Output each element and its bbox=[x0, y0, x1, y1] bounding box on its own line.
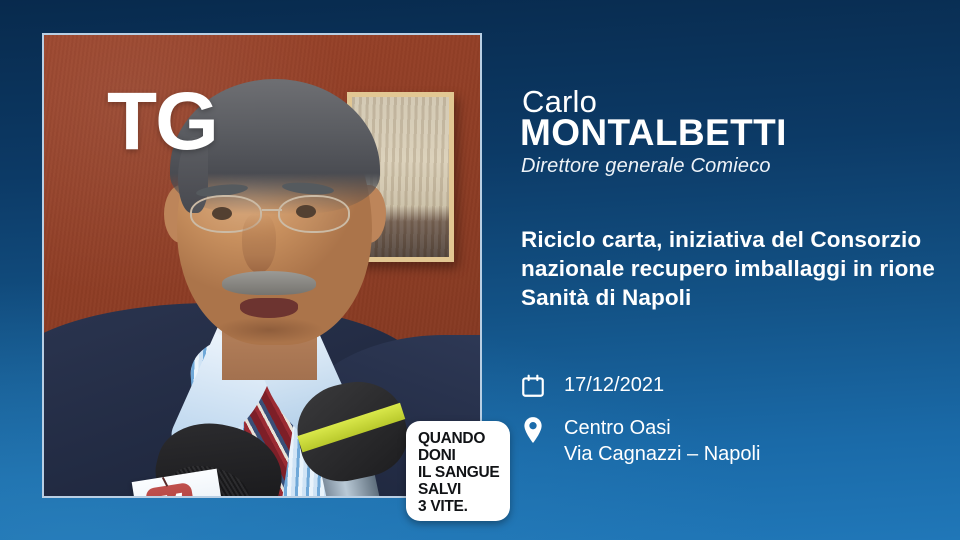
channel-watermark: TG bbox=[107, 81, 217, 163]
event-meta: 17/12/2021 Centro Oasi Via Cagnazzi – Na… bbox=[520, 372, 950, 483]
calendar-icon bbox=[520, 372, 564, 399]
event-date-row: 17/12/2021 bbox=[520, 372, 950, 399]
event-location-row: Centro Oasi Via Cagnazzi – Napoli bbox=[520, 415, 950, 467]
microphone-band bbox=[297, 403, 405, 453]
moustache bbox=[222, 271, 316, 295]
event-date: 17/12/2021 bbox=[564, 372, 664, 398]
broadcaster-m-logo-icon bbox=[145, 482, 197, 496]
speaker-role: Direttore generale Comieco bbox=[521, 155, 771, 178]
badge-line-2: DONI bbox=[418, 447, 510, 464]
badge-line-5: 3 VITE. bbox=[418, 498, 510, 515]
mouth bbox=[240, 298, 298, 318]
location-name: Centro Oasi bbox=[564, 417, 671, 439]
info-panel: Carlo MONTALBETTI Direttore generale Com… bbox=[520, 0, 960, 540]
event-location: Centro Oasi Via Cagnazzi – Napoli bbox=[564, 415, 760, 467]
speaker-last-name: MONTALBETTI bbox=[520, 112, 787, 154]
headline: Riciclo carta, iniziativa del Consorzio … bbox=[521, 225, 957, 312]
badge-line-3: IL SANGUE bbox=[418, 464, 510, 481]
chin-shadow bbox=[214, 317, 324, 343]
location-address: Via Cagnazzi – Napoli bbox=[564, 443, 760, 465]
nose bbox=[242, 213, 276, 273]
eyeglasses bbox=[186, 195, 372, 235]
lens-right bbox=[278, 195, 350, 233]
glasses-bridge bbox=[262, 209, 282, 211]
badge-line-1: QUANDO bbox=[418, 430, 510, 447]
broadcast-lower-third-graphic: TG QUANDO DONI IL SANGUE SALVI 3 VITE. C… bbox=[0, 0, 960, 540]
blood-donation-badge: QUANDO DONI IL SANGUE SALVI 3 VITE. bbox=[406, 421, 510, 521]
map-pin-icon bbox=[520, 415, 564, 444]
badge-line-4: SALVI bbox=[418, 481, 510, 498]
